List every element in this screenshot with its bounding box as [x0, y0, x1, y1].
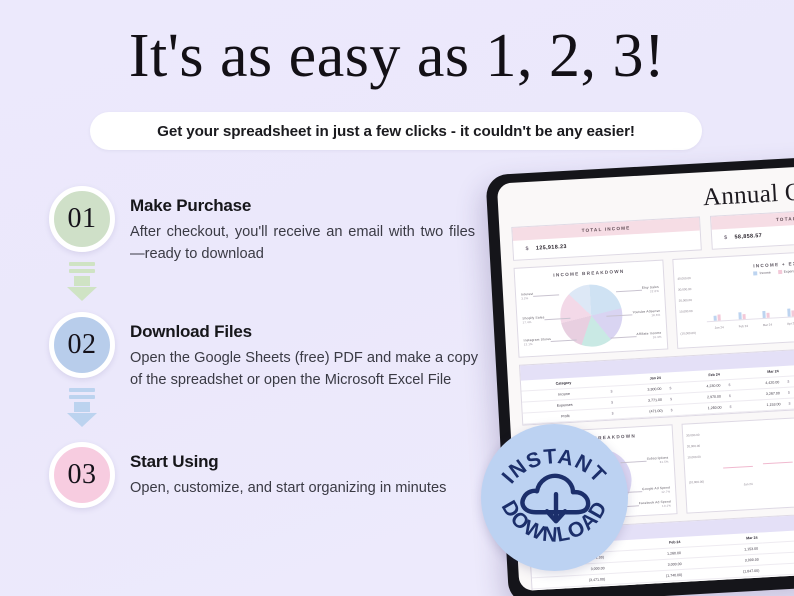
income-pie-chart: Interest 3.2% Shopify Sales 17.4% Instag… [515, 275, 667, 357]
y-tick: (10,000.00) [680, 328, 696, 340]
step-item-02: 02 Download Files Open the Google Sheets… [34, 312, 494, 442]
cloud-download-icon [516, 468, 594, 530]
step-number-02: 02 [68, 329, 97, 361]
y-tick: 30,000.00 [678, 284, 694, 296]
instant-download-badge[interactable]: INSTANT DOWNLOAD [481, 424, 628, 571]
step-body-01: After checkout, you'll receive an email … [130, 221, 475, 266]
income-expense-chart-card: INCOME + EXPENSE Income Expense Profit 4… [672, 246, 794, 349]
x-tick: Jan 24 [716, 480, 780, 488]
x-tick: Apr 24 [779, 321, 794, 326]
step-title-02: Download Files [130, 322, 480, 342]
y-tick: (10,000.00) [689, 477, 705, 489]
step-text-02: Download Files Open the Google Sheets (f… [130, 312, 480, 392]
pie-label-value: 12.1% [524, 341, 552, 347]
step-text-03: Start Using Open, customize, and start o… [130, 442, 446, 499]
pie-label-facebook-ads: Facebook Ad Spend 10.1% [639, 499, 672, 509]
bar-group [754, 283, 777, 318]
legend-item-income: Income [753, 271, 770, 276]
y-tick: 10,000.00 [679, 306, 695, 318]
step-item-03: 03 Start Using Open, customize, and star… [34, 442, 494, 508]
step-badge-wrap-01: 01 [34, 186, 130, 252]
step-body-03: Open, customize, and start organizing in… [130, 477, 446, 499]
pie-label-google-ads: Google Ad Spend 12.7% [642, 486, 670, 496]
pie-label-interest: Interest 3.2% [521, 292, 534, 301]
y-tick: 20,000.00 [687, 441, 703, 453]
legend-label: Expense [784, 269, 794, 274]
pie-label-shopify: Shopify Sales 17.4% [522, 315, 545, 324]
kpi-amount-expenses: 58,858.57 [734, 233, 762, 241]
steps-list: 01 Make Purchase After checkout, you'll … [34, 186, 494, 508]
x-tick: Feb 24 [780, 477, 794, 485]
income-expense-chart: INCOME + EXPENSE Income Expense Profit 4… [673, 247, 794, 334]
step-badge-01: 01 [49, 186, 115, 252]
y-tick: 20,000.00 [678, 295, 694, 307]
step-text-01: Make Purchase After checkout, you'll rec… [130, 186, 475, 266]
step-title-01: Make Purchase [130, 196, 475, 216]
step-badge-02: 02 [49, 312, 115, 378]
down-arrow-icon-02 [67, 388, 97, 427]
kpi-amount-income: 125,918.23 [536, 244, 567, 252]
step-connector-01 [34, 262, 130, 301]
legend-label: Income [759, 271, 770, 276]
step-number-01: 01 [68, 203, 97, 235]
legend-item-expense: Expense [778, 269, 794, 274]
step-connector-02 [34, 388, 130, 427]
expense-line-chart-card: 30,000.00 20,000.00 10,000.00 (10,000.00… [682, 411, 794, 514]
step-badge-wrap-02: 02 [34, 312, 130, 378]
pie-label-youtube: Youtube Adsense 18.6% [632, 309, 660, 319]
x-tick: Feb 24 [731, 323, 755, 328]
currency-symbol-income: $ [525, 246, 529, 252]
x-tick: Jan 24 [707, 325, 731, 330]
income-breakdown-card: INCOME BREAKDOWN Interest 3.2% Shopify S… [514, 260, 669, 358]
subtitle-text: Get your spreadsheet in just a few click… [157, 123, 635, 140]
line-y-axis: 30,000.00 20,000.00 10,000.00 (10,000.00… [686, 430, 705, 489]
pie-label-subscriptions: Subscriptions 31.5% [647, 456, 669, 465]
pie-label-etsy: Etsy Sales 22.0% [642, 285, 659, 294]
y-tick: 30,000.00 [686, 430, 702, 442]
chart-y-axis: 40,000.00 30,000.00 20,000.00 10,000.00 … [677, 273, 696, 340]
expense-line-chart: 30,000.00 20,000.00 10,000.00 (10,000.00… [683, 412, 794, 493]
line-x-axis: Jan 24 Feb 24 Mar 24 [716, 473, 794, 488]
currency-symbol-expenses: $ [724, 235, 728, 241]
page-title: It's as easy as 1, 2, 3! [0, 24, 794, 89]
y-tick: 10,000.00 [687, 452, 703, 464]
step-number-03: 03 [68, 459, 97, 491]
subtitle-banner: Get your spreadsheet in just a few click… [90, 112, 702, 150]
down-arrow-icon-01 [67, 262, 97, 301]
chart-bars [705, 276, 794, 321]
pie-label-affiliate: Affiliate Income 16.3% [636, 331, 661, 340]
step-item-01: 01 Make Purchase After checkout, you'll … [34, 186, 494, 312]
pie-label-instagram: Instagram Stores 12.1% [523, 337, 551, 347]
bar-group [705, 286, 728, 321]
poster-canvas: It's as easy as 1, 2, 3! Get your spread… [0, 0, 794, 596]
step-badge-03: 03 [49, 442, 115, 508]
step-badge-wrap-03: 03 [34, 442, 130, 508]
y-tick: 40,000.00 [677, 273, 693, 285]
step-title-03: Start Using [130, 452, 446, 472]
bar-group [729, 285, 752, 320]
bar-group [778, 282, 794, 317]
step-body-02: Open the Google Sheets (free) PDF and ma… [130, 347, 480, 392]
x-tick: Mar 24 [755, 322, 779, 327]
pie-label-value: 17.4% [522, 319, 544, 324]
pie-label-value: 3.2% [521, 296, 533, 301]
